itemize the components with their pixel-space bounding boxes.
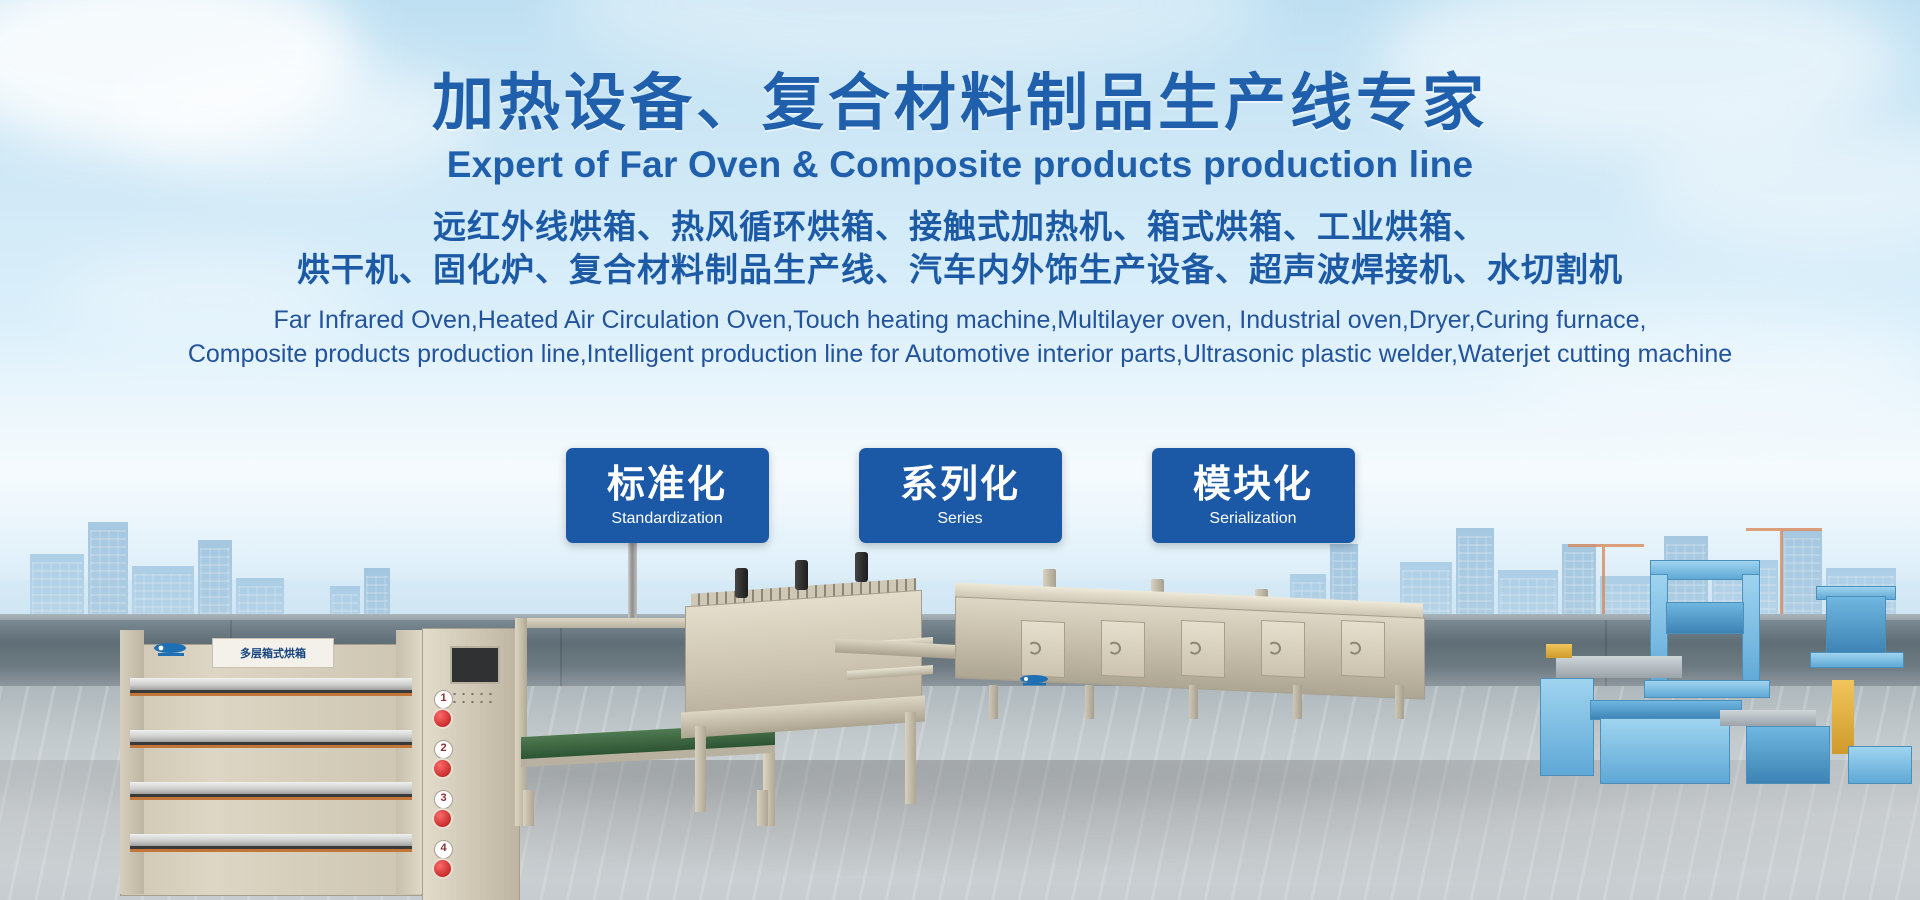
- feature-badge-group: 标准化 Standardization 系列化 Series 模块化 Seria…: [0, 448, 1920, 543]
- multilayer-oven-machine: 多层箱式烘箱 1 2 3 4: [120, 618, 535, 900]
- indicator-lamp-1: [434, 710, 451, 727]
- control-display: [450, 646, 500, 684]
- indicator-lamp-3: [434, 810, 451, 827]
- brand-logo-icon: [148, 640, 194, 658]
- indicator-number-1: 1: [434, 690, 453, 709]
- badge-standardization[interactable]: 标准化 Standardization: [566, 448, 769, 543]
- oven-nameplate-text: 多层箱式烘箱: [240, 645, 306, 661]
- badge-series-cn: 系列化: [900, 465, 1020, 503]
- indicator-lamp-4: [434, 860, 451, 877]
- badge-standardization-cn: 标准化: [607, 465, 727, 503]
- headline-english: Expert of Far Oven & Composite products …: [0, 146, 1920, 185]
- indicator-lamp-2: [434, 760, 451, 777]
- indicator-number-2: 2: [434, 740, 453, 759]
- product-list-en-line-2: Composite products production line,Intel…: [0, 338, 1920, 372]
- badge-serialization-cn: 模块化: [1193, 465, 1313, 503]
- badge-serialization-en: Serialization: [1209, 511, 1296, 527]
- product-list-english: Far Infrared Oven,Heated Air Circulation…: [0, 304, 1920, 372]
- product-list-cn-line-2: 烘干机、固化炉、复合材料制品生产线、汽车内外饰生产设备、超声波焊接机、水切割机: [0, 248, 1920, 292]
- brand-logo-icon: [1015, 673, 1055, 687]
- product-list-en-line-1: Far Infrared Oven,Heated Air Circulation…: [0, 304, 1920, 338]
- banner-copy: 加热设备、复合材料制品生产线专家 Expert of Far Oven & Co…: [0, 0, 1920, 371]
- badge-series[interactable]: 系列化 Series: [859, 448, 1062, 543]
- product-list-chinese: 远红外线烘箱、热风循环烘箱、接触式加热机、箱式烘箱、工业烘箱、 烘干机、固化炉、…: [0, 205, 1920, 292]
- hero-banner: 多层箱式烘箱 1 2 3 4: [0, 0, 1920, 900]
- tunnel-oven-machine: [955, 565, 1475, 765]
- badge-serialization[interactable]: 模块化 Serialization: [1152, 448, 1355, 543]
- vent-grille: [450, 690, 494, 708]
- indicator-number-4: 4: [434, 840, 453, 859]
- oven-nameplate: 多层箱式烘箱: [212, 638, 334, 668]
- badge-standardization-en: Standardization: [611, 511, 722, 527]
- headline-chinese: 加热设备、复合材料制品生产线专家: [0, 72, 1920, 134]
- badge-series-en: Series: [937, 511, 982, 527]
- indicator-number-3: 3: [434, 790, 453, 809]
- product-list-cn-line-1: 远红外线烘箱、热风循环烘箱、接触式加热机、箱式烘箱、工业烘箱、: [0, 205, 1920, 249]
- auxiliary-equipment-group: [1530, 560, 1920, 840]
